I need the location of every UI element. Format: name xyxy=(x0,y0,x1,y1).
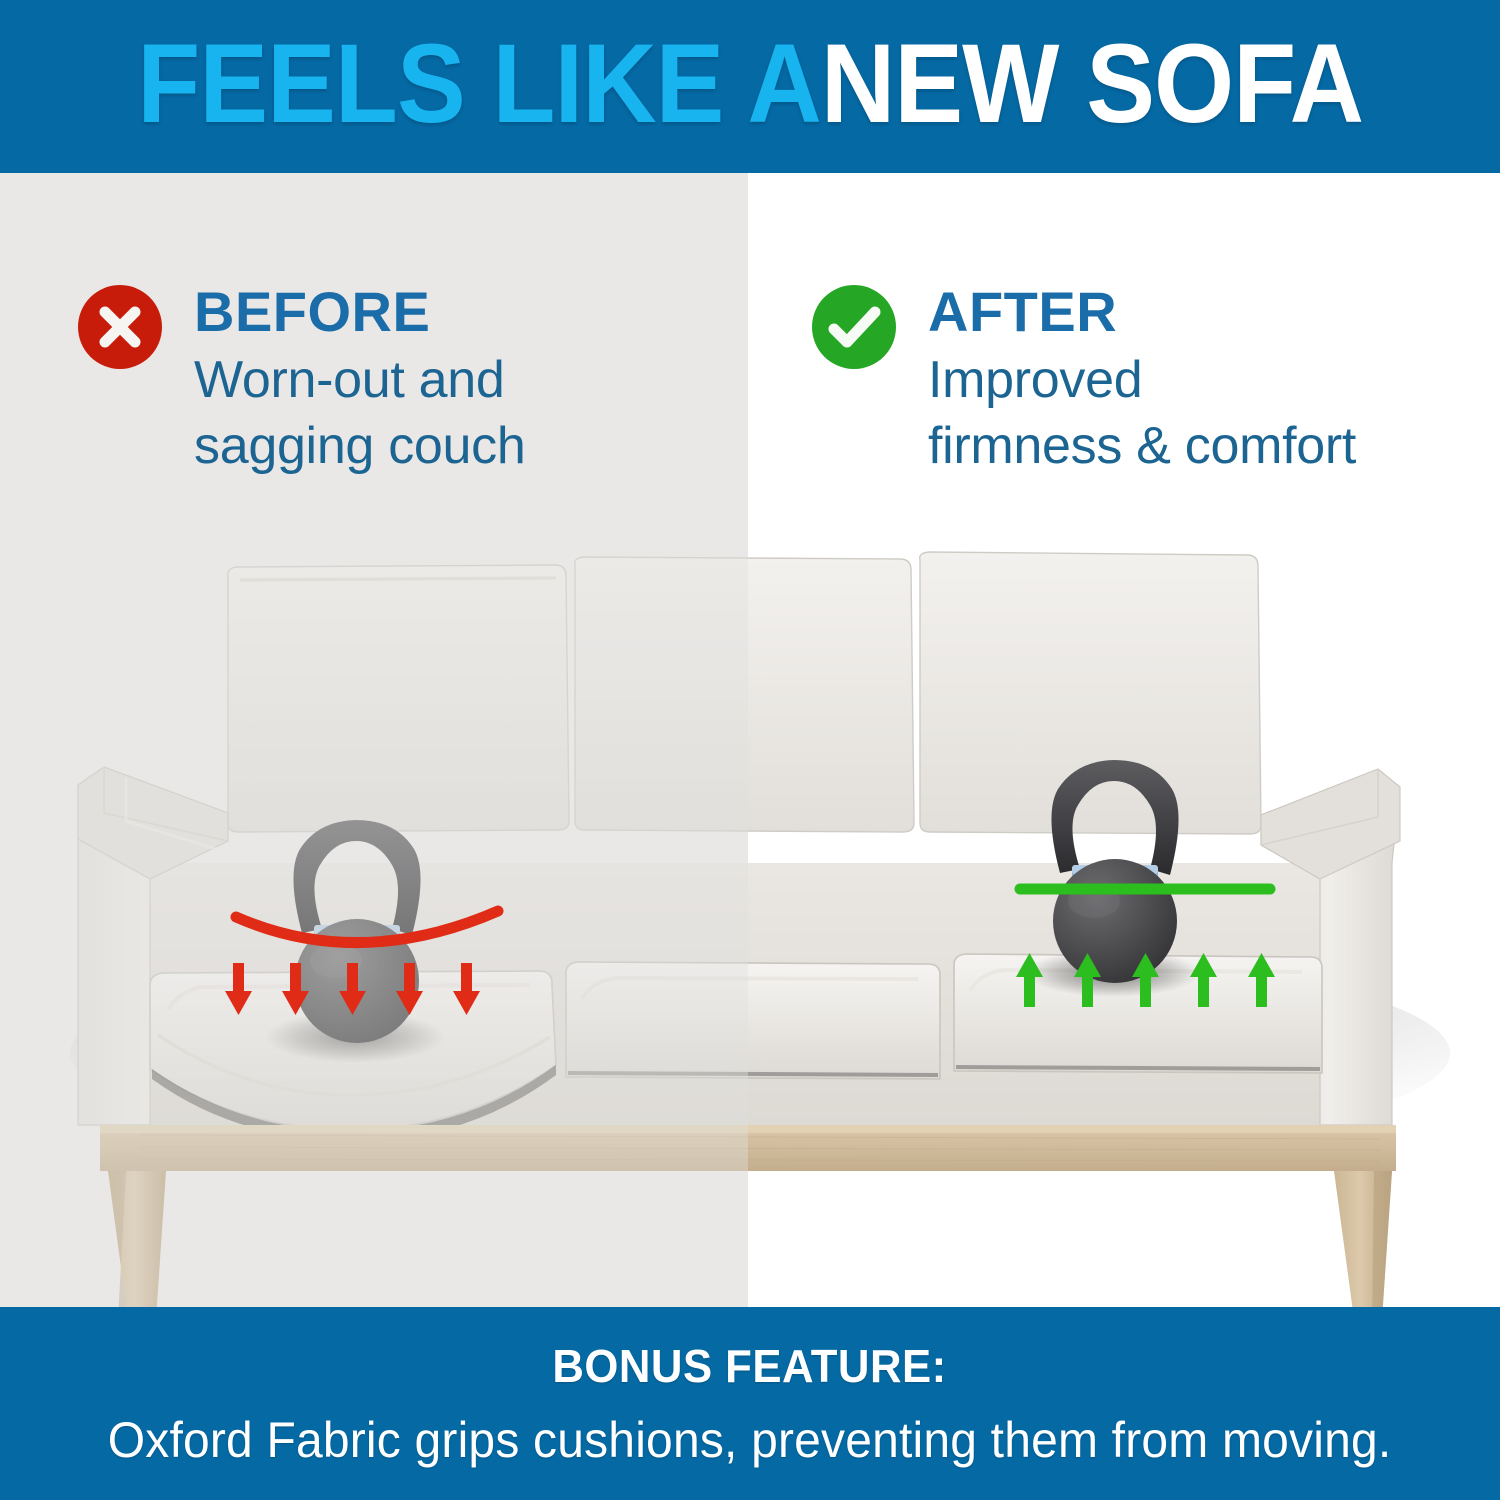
before-description: Worn-out and sagging couch xyxy=(194,347,525,479)
check-mark-icon xyxy=(812,285,896,369)
x-mark-icon xyxy=(78,285,162,369)
before-text-group: BEFORE Worn-out and sagging couch xyxy=(194,281,525,479)
bonus-feature-description: Oxford Fabric grips cushions, preventing… xyxy=(108,1411,1392,1469)
after-title: AFTER xyxy=(928,281,1356,343)
page-title-part2: NEW SOFA xyxy=(821,21,1363,146)
comparison-stage: BEFORE Worn-out and sagging couch AFTER … xyxy=(0,173,1500,1307)
footer-banner: BONUS FEATURE: Oxford Fabric grips cushi… xyxy=(0,1307,1500,1500)
header-banner: FEELS LIKE ANEW SOFA xyxy=(0,0,1500,173)
product-infographic: FEELS LIKE ANEW SOFA xyxy=(0,0,1500,1500)
before-title: BEFORE xyxy=(194,281,525,343)
after-description: Improved firmness & comfort xyxy=(928,347,1356,479)
page-title: FEELS LIKE ANEW SOFA xyxy=(137,28,1363,146)
after-text-group: AFTER Improved firmness & comfort xyxy=(928,281,1356,479)
bonus-feature-title: BONUS FEATURE: xyxy=(553,1339,947,1393)
after-label-block: AFTER Improved firmness & comfort xyxy=(812,281,1356,479)
before-label-block: BEFORE Worn-out and sagging couch xyxy=(78,281,525,479)
page-title-part1: FEELS LIKE A xyxy=(137,21,821,146)
